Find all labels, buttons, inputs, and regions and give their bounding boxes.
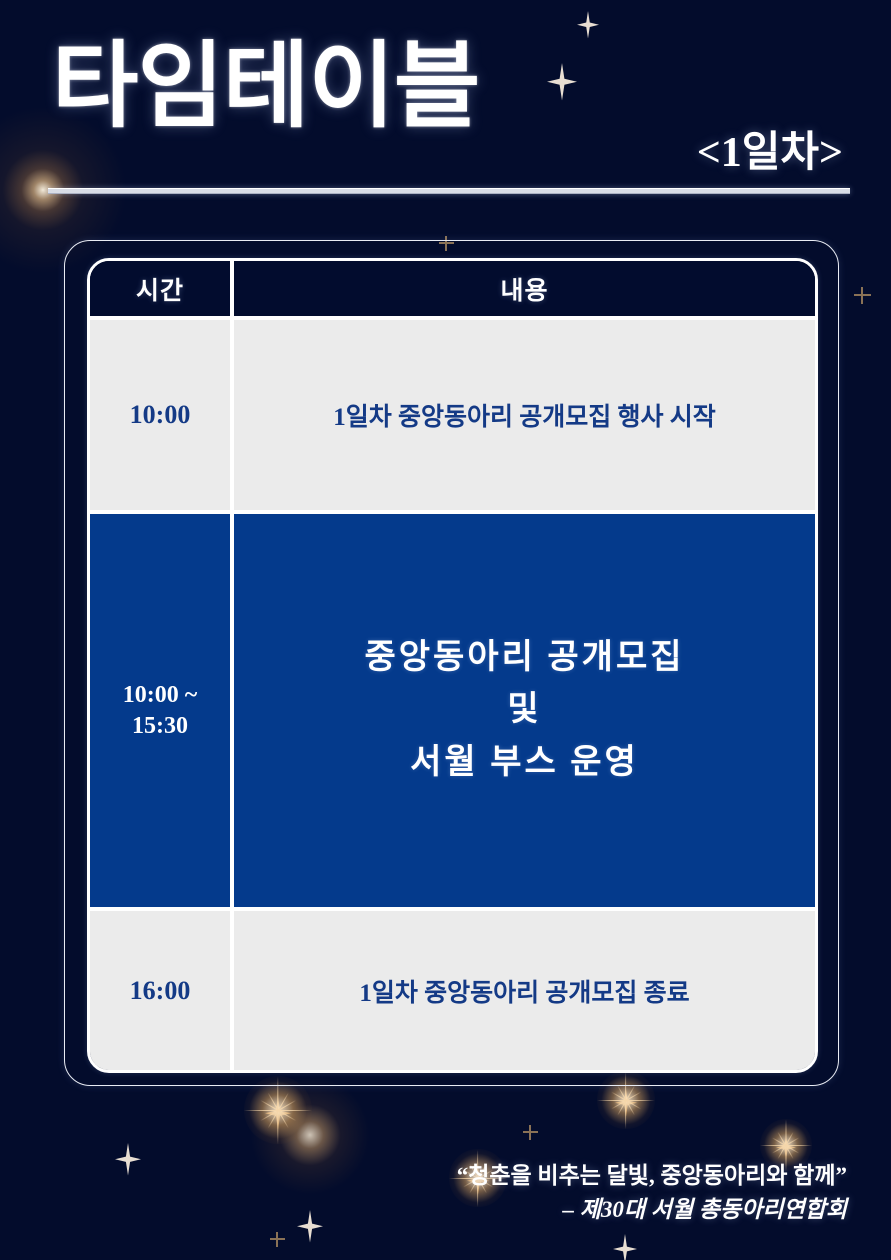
timetable: 시간 내용 10:00 1일차 중앙동아리 공개모집 행사 시작 10:00 ~… <box>87 258 818 1073</box>
cell-content: 1일차 중앙동아리 공개모집 행사 시작 <box>230 320 815 510</box>
sparkle-icon <box>776 1135 796 1160</box>
cell-content-line: 및 <box>364 684 684 737</box>
plus-mark-icon <box>270 1232 285 1247</box>
sparkle-icon <box>115 1143 141 1176</box>
plus-mark-icon <box>854 287 871 304</box>
cell-time: 10:00 ~ 15:30 <box>90 514 230 907</box>
poster-header: 타임테이블 <1일차> <box>0 0 891 210</box>
column-header-time: 시간 <box>90 261 230 316</box>
footer-quote: “청춘을 비추는 달빛, 중앙동아리와 함께” <box>457 1159 847 1192</box>
cell-content-line: 서월 부스 운영 <box>364 737 684 790</box>
footer-credit: – 제30대 서월 총동아리연합회 <box>457 1193 847 1226</box>
cell-time: 10:00 <box>90 320 230 510</box>
cell-time-line: 15:30 <box>123 711 197 742</box>
cell-content-line: 중앙동아리 공개모집 <box>364 632 684 685</box>
sparkle-icon <box>615 1089 637 1117</box>
star-glow <box>250 1075 370 1195</box>
page-title: 타임테이블 <box>52 40 479 134</box>
cell-time-line: 10:00 ~ <box>123 680 197 711</box>
table-row: 16:00 1일차 중앙동아리 공개모집 종료 <box>90 911 815 1070</box>
cell-content: 중앙동아리 공개모집 및 서월 부스 운영 <box>230 514 815 907</box>
column-header-content: 내용 <box>230 261 815 316</box>
sparkle-icon <box>265 1097 291 1130</box>
poster-footer: “청춘을 비추는 달빛, 중앙동아리와 함께” – 제30대 서월 총동아리연합… <box>457 1159 847 1226</box>
sparkle-icon <box>613 1234 637 1260</box>
cell-content: 1일차 중앙동아리 공개모집 종료 <box>230 911 815 1070</box>
table-header-row: 시간 내용 <box>90 261 815 316</box>
sparkle-icon <box>297 1210 323 1243</box>
cell-time: 16:00 <box>90 911 230 1070</box>
burst-star-icon <box>244 1076 312 1144</box>
table-row: 10:00 1일차 중앙동아리 공개모집 행사 시작 <box>90 320 815 510</box>
day-badge: <1일차> <box>697 118 843 179</box>
title-divider-rule <box>48 188 850 194</box>
table-row-highlighted: 10:00 ~ 15:30 중앙동아리 공개모집 및 서월 부스 운영 <box>90 514 815 907</box>
plus-mark-icon <box>523 1125 538 1140</box>
